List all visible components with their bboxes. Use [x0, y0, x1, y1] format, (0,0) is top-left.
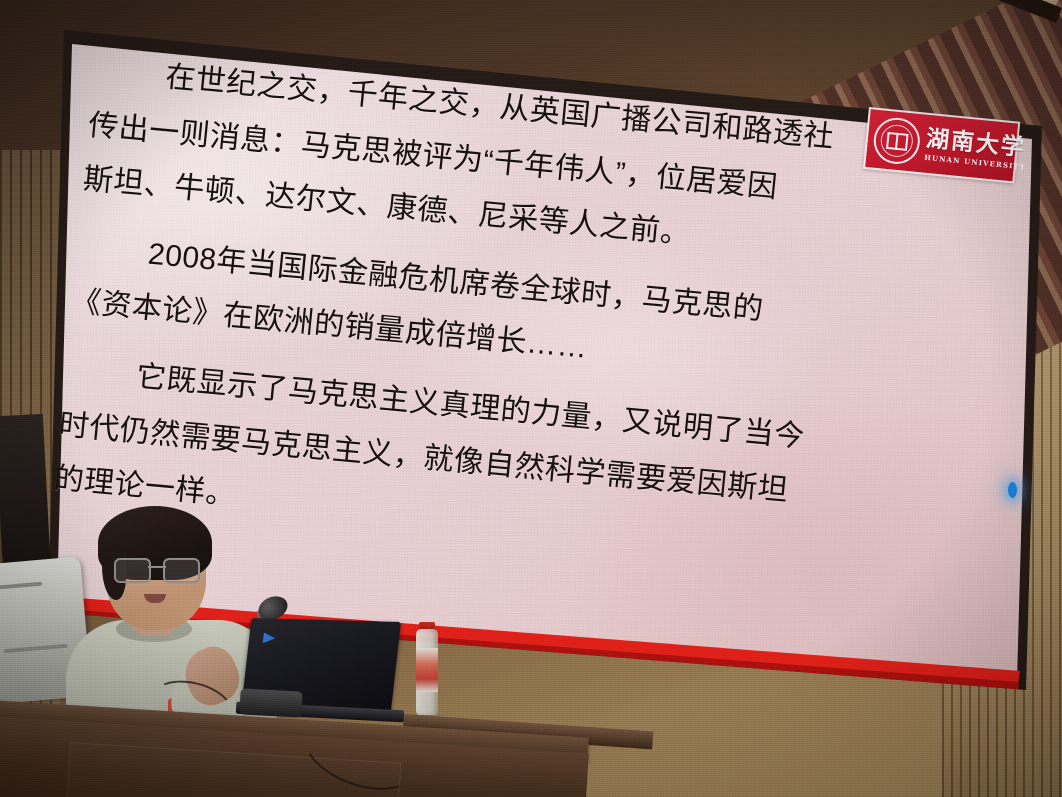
seal-inner-mark [886, 131, 909, 150]
glasses-lens-left [114, 558, 151, 583]
water-bottle-label [416, 648, 438, 692]
glasses-lens-right [163, 558, 200, 583]
university-seal-icon [872, 116, 922, 166]
logo-text-group: 湖南大学 HUNAN UNIVERSITY [924, 127, 1029, 171]
screen-indicator-led-icon [1008, 482, 1017, 498]
lecture-hall-photo: 在世纪之交，千年之交，从英国广播公司和路透社 传出一则消息：马克思被评为“千年伟… [0, 0, 1062, 797]
laptop-brand-logo-icon [263, 632, 276, 643]
glasses-icon [114, 558, 200, 580]
microphone-base [239, 688, 302, 717]
monitor-detail-line [0, 582, 42, 590]
